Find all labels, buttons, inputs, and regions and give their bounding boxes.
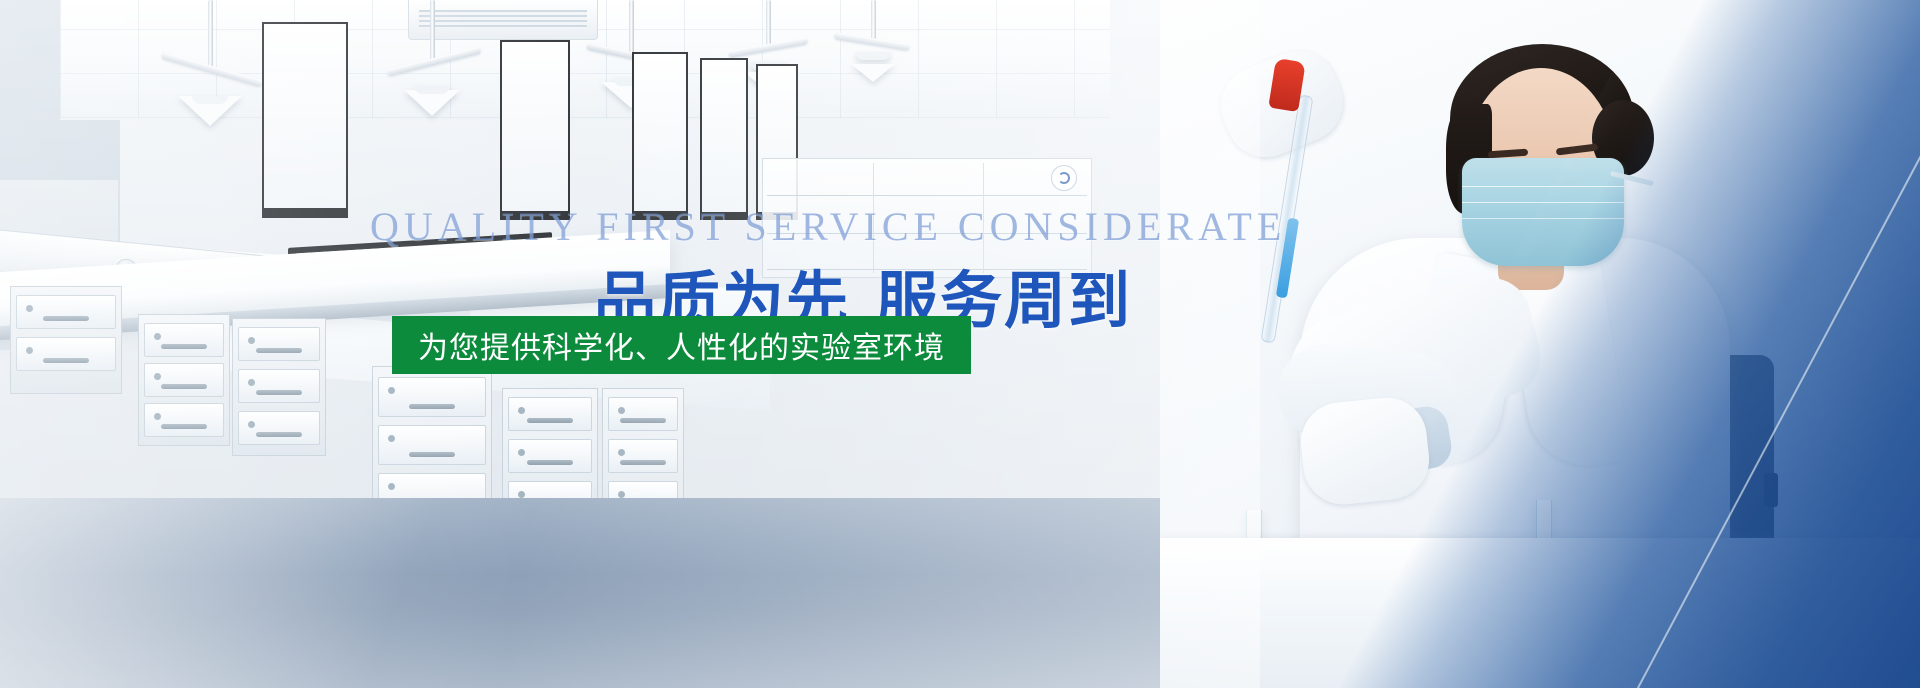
- subtitle-bar: 为您提供科学化、人性化的实验室环境: [392, 316, 971, 374]
- banner-copy: QUALITY FIRST SERVICE CONSIDERATE 品质为先服务…: [0, 0, 1920, 688]
- hero-banner: QUALITY FIRST SERVICE CONSIDERATE 品质为先服务…: [0, 0, 1920, 688]
- english-tagline: QUALITY FIRST SERVICE CONSIDERATE: [370, 203, 1286, 250]
- subtitle-text: 为您提供科学化、人性化的实验室环境: [418, 323, 945, 367]
